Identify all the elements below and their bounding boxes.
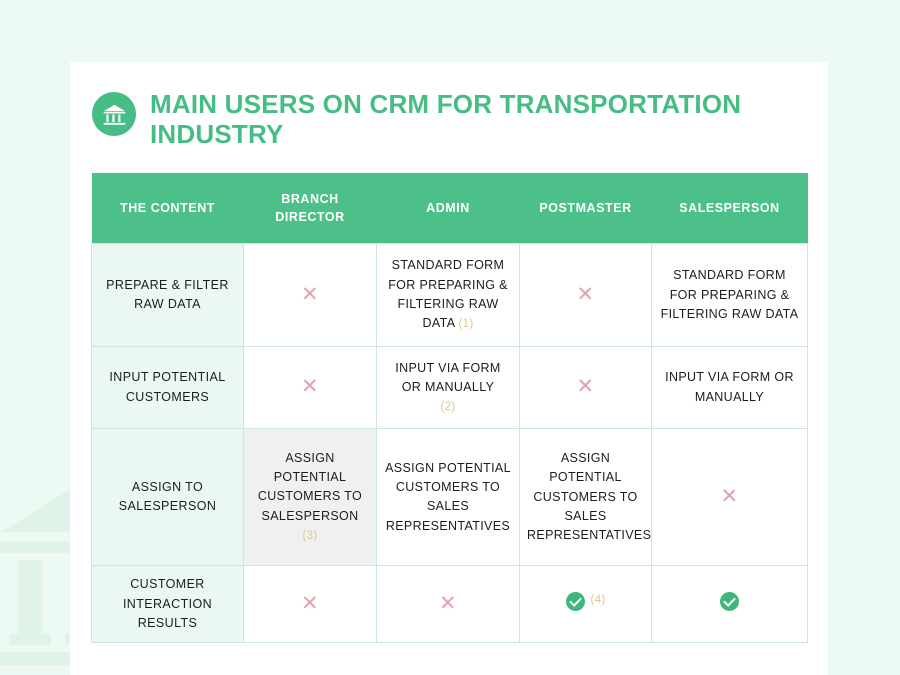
cell-postmaster: ✕: [520, 347, 652, 429]
table-row: INPUT POTENTIAL CUSTOMERS ✕ INPUT VIA FO…: [92, 347, 808, 429]
cell-admin: STANDARD FORM FOR PREPARING & FILTERING …: [377, 244, 520, 347]
cell-salesperson: [652, 566, 808, 643]
cell-postmaster: (4): [520, 566, 652, 643]
cell-branch-director: ASSIGN POTENTIAL CUSTOMERS TO SALESPERSO…: [244, 429, 377, 566]
column-header-the-content: THE CONTENT: [92, 173, 244, 244]
cell-text: INPUT VIA FORM OR MANUALLY: [395, 361, 500, 394]
cell-branch-director: ✕: [244, 347, 377, 429]
cross-icon: ✕: [721, 486, 739, 507]
bank-institution-icon: [92, 92, 136, 136]
cell-admin: ASSIGN POTENTIAL CUSTOMERS TO SALES REPR…: [377, 429, 520, 566]
check-circle-icon: [566, 592, 585, 611]
cross-icon: ✕: [301, 593, 319, 614]
row-label: CUSTOMER INTERACTION RESULTS: [92, 566, 244, 643]
cell-branch-director: ✕: [244, 244, 377, 347]
cell-note: (1): [459, 318, 474, 330]
cross-icon: ✕: [439, 593, 457, 614]
cell-text: ASSIGN POTENTIAL CUSTOMERS TO SALES REPR…: [527, 451, 651, 543]
cell-note: (2): [441, 401, 456, 413]
cell-note: (4): [591, 592, 606, 610]
page-title: MAIN USERS ON CRM FOR TRANSPORTATION IND…: [150, 89, 810, 150]
cell-note: (3): [303, 530, 318, 542]
cross-icon: ✕: [301, 284, 319, 305]
cross-icon: ✕: [577, 284, 595, 305]
cell-admin: ✕: [377, 566, 520, 643]
cell-text: ASSIGN POTENTIAL CUSTOMERS TO SALESPERSO…: [258, 451, 362, 523]
content-card: MAIN USERS ON CRM FOR TRANSPORTATION IND…: [70, 62, 828, 675]
column-header-admin: ADMIN: [377, 173, 520, 244]
check-group: (4): [566, 592, 606, 611]
users-matrix-table-wrap: THE CONTENT BRANCH DIRECTOR ADMIN POSTMA…: [91, 173, 807, 644]
cell-branch-director: ✕: [244, 566, 377, 643]
table-row: PREPARE & FILTER RAW DATA ✕ STANDARD FOR…: [92, 244, 808, 347]
cell-admin: INPUT VIA FORM OR MANUALLY (2): [377, 347, 520, 429]
cross-icon: ✕: [301, 376, 319, 397]
cell-text: STANDARD FORM FOR PREPARING & FILTERING …: [388, 258, 508, 330]
column-header-salesperson: SALESPERSON: [652, 173, 808, 244]
cell-text: STANDARD FORM FOR PREPARING & FILTERING …: [661, 268, 799, 321]
users-matrix-table: THE CONTENT BRANCH DIRECTOR ADMIN POSTMA…: [91, 173, 808, 644]
cell-postmaster: ✕: [520, 244, 652, 347]
cell-postmaster: ASSIGN POTENTIAL CUSTOMERS TO SALES REPR…: [520, 429, 652, 566]
cell-text: INPUT VIA FORM OR MANUALLY: [665, 370, 794, 403]
table-row: CUSTOMER INTERACTION RESULTS ✕ ✕ (4): [92, 566, 808, 643]
row-label: PREPARE & FILTER RAW DATA: [92, 244, 244, 347]
cell-text: ASSIGN POTENTIAL CUSTOMERS TO SALES REPR…: [385, 461, 511, 533]
column-header-postmaster: POSTMASTER: [520, 173, 652, 244]
page-header: MAIN USERS ON CRM FOR TRANSPORTATION IND…: [70, 62, 828, 150]
cell-salesperson: ✕: [652, 429, 808, 566]
column-header-branch-director: BRANCH DIRECTOR: [244, 173, 377, 244]
cross-icon: ✕: [577, 376, 595, 397]
row-label: INPUT POTENTIAL CUSTOMERS: [92, 347, 244, 429]
table-header-row: THE CONTENT BRANCH DIRECTOR ADMIN POSTMA…: [92, 173, 808, 244]
cell-salesperson: INPUT VIA FORM OR MANUALLY: [652, 347, 808, 429]
cell-salesperson: STANDARD FORM FOR PREPARING & FILTERING …: [652, 244, 808, 347]
row-label: ASSIGN TO SALESPERSON: [92, 429, 244, 566]
table-row: ASSIGN TO SALESPERSON ASSIGN POTENTIAL C…: [92, 429, 808, 566]
check-circle-icon: [720, 592, 739, 611]
